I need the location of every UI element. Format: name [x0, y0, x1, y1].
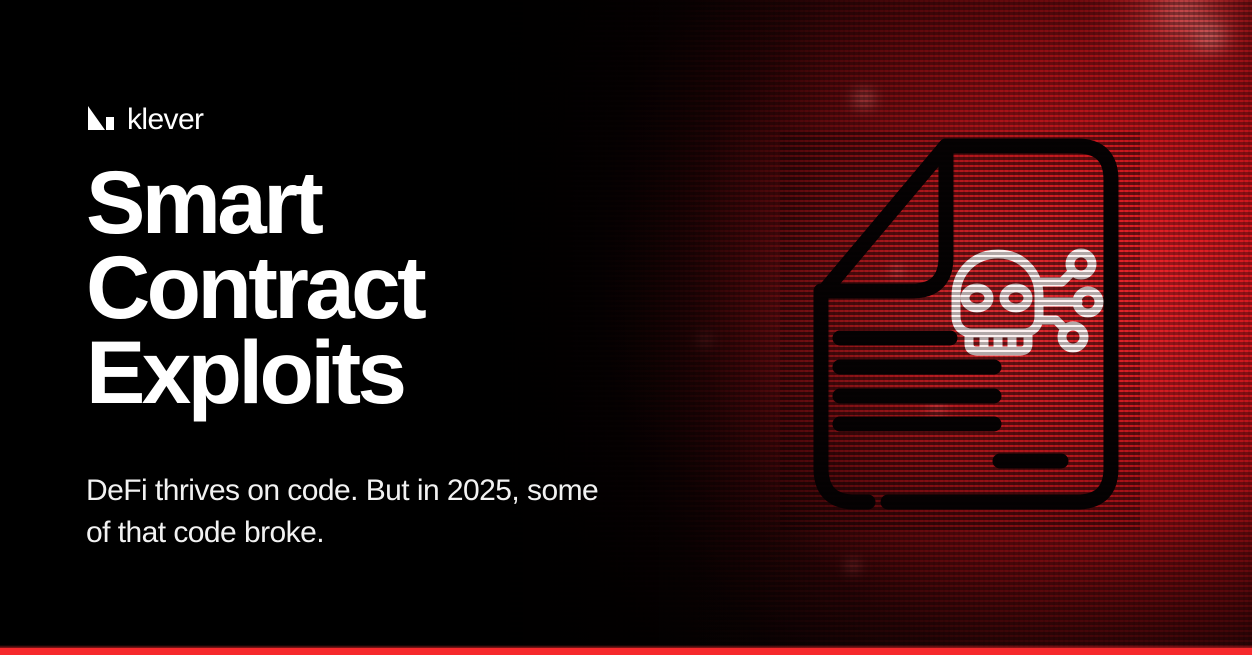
bottom-accent-bar	[0, 648, 1252, 655]
subtitle-line-2: of that code broke.	[86, 512, 666, 554]
malicious-document-illustration	[780, 130, 1140, 530]
headline-line-2: Contract	[86, 245, 726, 330]
page-title: Smart Contract Exploits	[86, 160, 726, 415]
skull-circuit-icon	[956, 253, 1099, 351]
headline-line-3: Exploits	[86, 330, 726, 415]
klever-wedge-icon	[86, 104, 116, 136]
klever-logo[interactable]: klever	[86, 104, 203, 136]
headline-line-1: Smart	[86, 160, 726, 245]
subtitle-line-1: DeFi thrives on code. But in 2025, some	[86, 470, 666, 512]
page-subtitle: DeFi thrives on code. But in 2025, some …	[86, 470, 666, 555]
background-hotspot	[1058, 0, 1252, 118]
promo-banner: klever Smart Contract Exploits DeFi thri…	[0, 0, 1252, 655]
klever-wordmark: klever	[127, 105, 203, 135]
banner-content: klever Smart Contract Exploits DeFi thri…	[86, 0, 726, 655]
